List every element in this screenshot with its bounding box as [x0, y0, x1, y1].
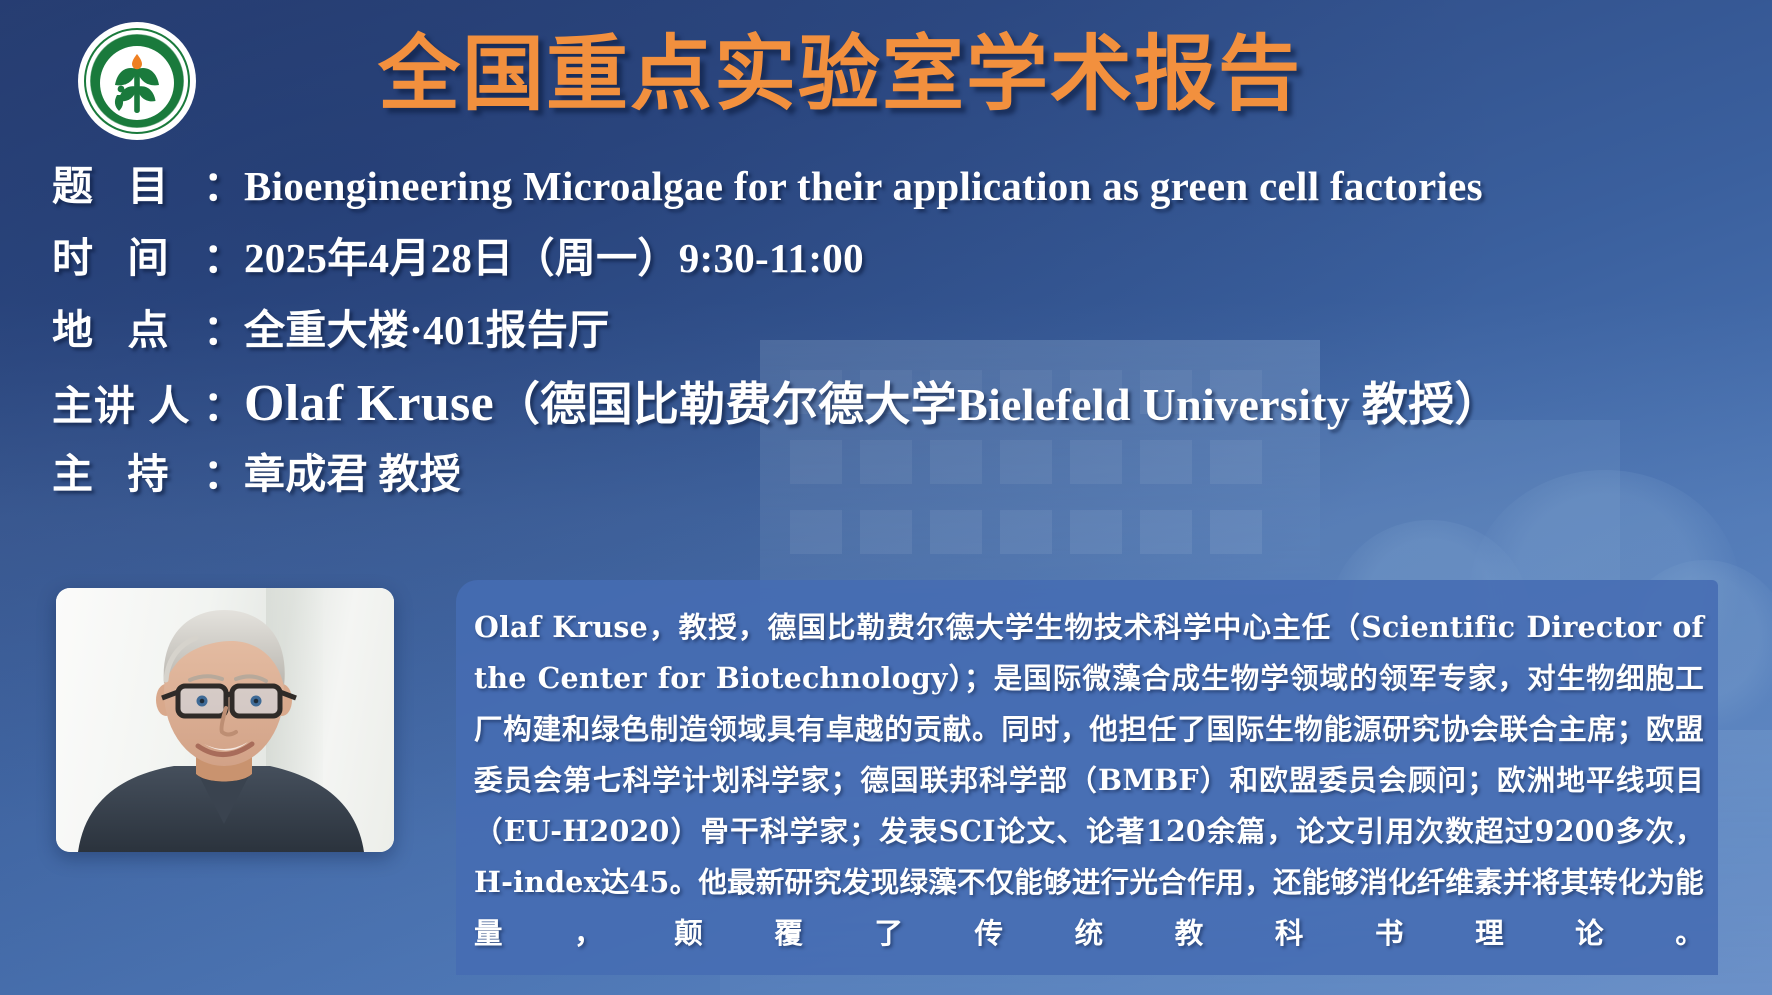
info-list: 题 目 ： Bioengineering Microalgae for thei…: [52, 152, 1752, 512]
seminar-poster: 农林草种质资源挖掘与利用全国重点实验室 State Key Laboratory…: [0, 0, 1772, 995]
speaker-name: Olaf Kruse: [244, 375, 494, 432]
lab-emblem-icon: [81, 25, 193, 137]
info-label-topic-char-2: 目: [128, 152, 170, 212]
info-value-place: 全重大楼·401报告厅: [244, 296, 609, 356]
info-value-host: 章成君 教授: [244, 440, 461, 500]
info-label-place-char-1: 地: [52, 296, 94, 356]
portrait-person-illustration: [56, 588, 394, 852]
info-row-time: 时 间 ： 2025年4月28日（周一）9:30-11:00: [52, 224, 1752, 296]
poster-title: 全国重点实验室学术报告: [300, 22, 1380, 129]
info-row-speaker: 主讲 人 ： Olaf Kruse（德国比勒费尔德大学Bielefeld Uni…: [52, 368, 1752, 440]
info-label-topic-char-1: 题: [52, 152, 94, 212]
info-label-speaker-char-1: 主讲: [52, 372, 136, 432]
info-label-topic-colon: ：: [203, 152, 244, 212]
info-label-host-colon: ：: [203, 440, 244, 500]
info-label-topic: 题 目 ：: [52, 152, 244, 212]
info-row-host: 主 持 ： 章成君 教授: [52, 440, 1752, 512]
speaker-bio-text: Olaf Kruse，教授，德国比勒费尔德大学生物技术科学中心主任（Scient…: [474, 602, 1704, 959]
info-row-topic: 题 目 ： Bioengineering Microalgae for thei…: [52, 152, 1752, 224]
info-label-time-char-1: 时: [52, 224, 94, 284]
speaker-affiliation: （德国比勒费尔德大学Bielefeld University 教授）: [494, 379, 1501, 430]
info-label-host-char-2: 持: [128, 440, 170, 500]
info-label-time: 时 间 ：: [52, 224, 244, 284]
info-label-time-char-2: 间: [128, 224, 170, 284]
info-row-place: 地 点 ： 全重大楼·401报告厅: [52, 296, 1752, 368]
info-value-time: 2025年4月28日（周一）9:30-11:00: [244, 224, 864, 284]
info-label-speaker-colon: ：: [203, 372, 244, 432]
info-label-place-char-2: 点: [128, 296, 170, 356]
info-label-place-colon: ：: [203, 296, 244, 356]
info-label-speaker: 主讲 人 ：: [52, 372, 244, 432]
info-label-host: 主 持 ：: [52, 440, 244, 500]
speaker-bio-panel: Olaf Kruse，教授，德国比勒费尔德大学生物技术科学中心主任（Scient…: [456, 580, 1718, 975]
speaker-portrait: [56, 588, 394, 852]
info-label-host-char-1: 主: [52, 440, 94, 500]
info-label-time-colon: ：: [203, 224, 244, 284]
info-label-speaker-char-2: 人: [149, 372, 191, 432]
info-value-speaker: Olaf Kruse（德国比勒费尔德大学Bielefeld University…: [244, 368, 1501, 434]
lab-logo: 农林草种质资源挖掘与利用全国重点实验室 State Key Laboratory…: [78, 22, 196, 140]
info-label-place: 地 点 ：: [52, 296, 244, 356]
info-value-topic: Bioengineering Microalgae for their appl…: [244, 162, 1483, 210]
